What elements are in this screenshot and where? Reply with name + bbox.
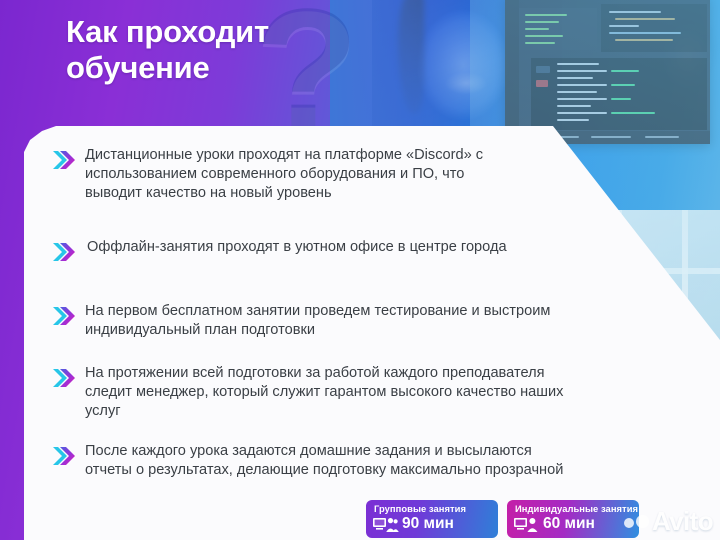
list-item: На протяжении всей подготовки за работой… xyxy=(52,364,564,421)
lesson-duration-badges: Групповые занятия 90 мин Индивидуальные … xyxy=(366,500,639,538)
double-chevron-icon xyxy=(52,367,76,389)
status-badge-group-lessons: Групповые занятия 90 мин xyxy=(366,500,498,538)
list-item-text: На первом бесплатном занятии проведем те… xyxy=(85,302,552,340)
list-item: На первом бесплатном занятии проведем те… xyxy=(52,302,552,340)
list-item-text: На протяжении всей подготовки за работой… xyxy=(85,364,564,421)
double-chevron-icon xyxy=(52,241,76,263)
monitor-group-icon xyxy=(373,517,399,533)
page-title: Как проходит обучение xyxy=(66,14,396,86)
badge-caption: Групповые занятия xyxy=(374,503,466,514)
list-item-text: Оффлайн-занятия проходят в уютном офисе … xyxy=(87,238,507,263)
list-item-text: Дистанционные уроки проходят на платформ… xyxy=(85,146,492,203)
code-editor-screenshot xyxy=(505,0,710,144)
monitor-person-icon xyxy=(514,517,540,533)
badge-duration: 90 мин xyxy=(402,515,454,533)
avito-wordmark: Avito xyxy=(652,506,713,537)
avito-bubbles-icon xyxy=(624,515,649,528)
badge-duration: 60 мин xyxy=(543,515,595,533)
double-chevron-icon xyxy=(52,445,76,467)
promo-slide: ? Как проходит обучение Дистанционные ур… xyxy=(0,0,720,540)
avito-watermark: Avito xyxy=(624,506,713,537)
list-item: Оффлайн-занятия проходят в уютном офисе … xyxy=(52,238,552,263)
double-chevron-icon xyxy=(52,149,76,171)
list-item: После каждого урока задаются домашние за… xyxy=(52,442,580,480)
status-badge-individual-lessons: Индивидуальные занятия 60 мин xyxy=(507,500,639,538)
list-item: Дистанционные уроки проходят на платформ… xyxy=(52,146,492,203)
badge-caption: Индивидуальные занятия xyxy=(515,503,638,514)
bullet-list: Дистанционные уроки проходят на платформ… xyxy=(24,126,720,540)
list-item-text: После каждого урока задаются домашние за… xyxy=(85,442,580,480)
double-chevron-icon xyxy=(52,305,76,327)
